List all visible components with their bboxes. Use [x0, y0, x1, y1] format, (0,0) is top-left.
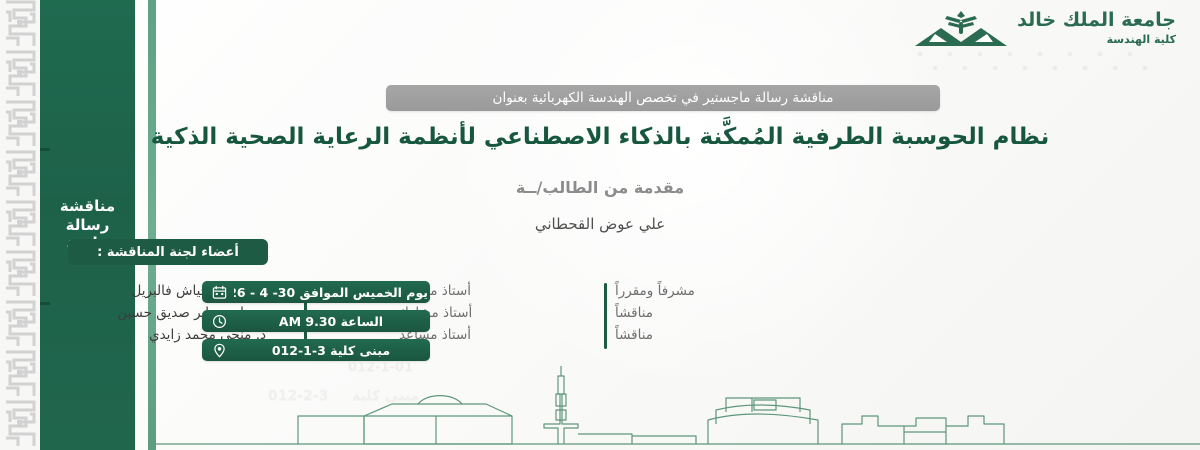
committee-heading-text: أعضاء لجنة المناقشة : — [97, 245, 239, 260]
committee-divider-left — [604, 283, 607, 349]
clock-icon — [204, 314, 234, 329]
student-label: مقدمة من الطالب/ــة — [0, 178, 1200, 197]
logo-university-name: جامعة الملك خالد — [1017, 10, 1176, 31]
logo-college-name: كلية الهندسة — [1017, 33, 1176, 46]
subtitle-banner: مناقشة رسالة ماجستير في تخصص الهندسة الك… — [386, 85, 940, 111]
event-date-text: يوم الخميس الموافق 30- 4 - 2026 — [234, 285, 430, 300]
logo-dot-texture — [912, 48, 1162, 74]
city-skyline-icon — [156, 354, 1200, 450]
event-time-pill: الساعة 9.30 AM — [202, 310, 430, 332]
thesis-defense-poster: مناقشة رسالة علمية جامعة الملك خالد كلية… — [0, 0, 1200, 450]
committee-member-role: مناقشاً — [615, 324, 730, 346]
event-time-text: الساعة 9.30 AM — [234, 314, 430, 329]
student-name: علي عوض القحطاني — [0, 215, 1200, 233]
committee-member-role: مشرفاً ومقرراً — [615, 280, 730, 302]
committee-member-role: مناقشاً — [615, 302, 730, 324]
subtitle-banner-text: مناقشة رسالة ماجستير في تخصص الهندسة الك… — [493, 90, 834, 106]
university-logo: جامعة الملك خالد كلية الهندسة — [913, 8, 1176, 48]
page-title: نظام الحوسبة الطرفية المُمكَّنة بالذكاء … — [0, 124, 1200, 150]
event-date-pill: يوم الخميس الموافق 30- 4 - 2026 — [202, 281, 430, 303]
committee-member-roles: مشرفاً ومقرراً مناقشاً مناقشاً — [615, 280, 730, 346]
calendar-icon — [204, 285, 234, 300]
committee-heading-badge: أعضاء لجنة المناقشة : — [68, 239, 268, 265]
logo-text-group: جامعة الملك خالد كلية الهندسة — [1017, 10, 1176, 46]
palm-mountains-icon — [913, 8, 1009, 48]
